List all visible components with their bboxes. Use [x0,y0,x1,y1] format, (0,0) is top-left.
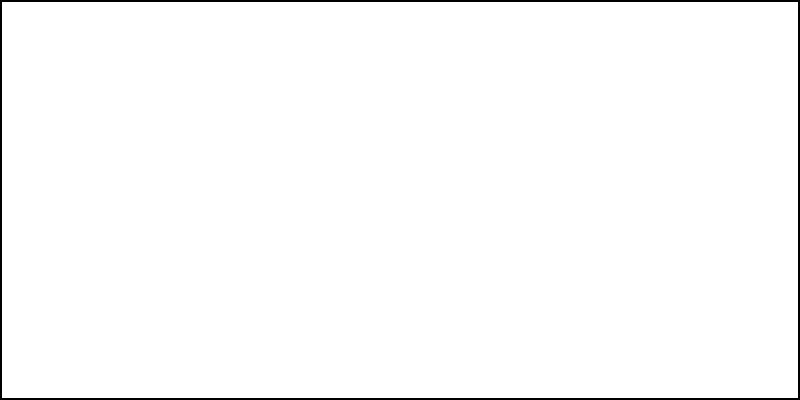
chart-canvas [0,0,800,400]
bottom-axis-tickmarks [2,340,800,345]
legend [2,365,800,399]
plot-area [2,80,800,342]
bottom-axis-labels [2,346,800,360]
